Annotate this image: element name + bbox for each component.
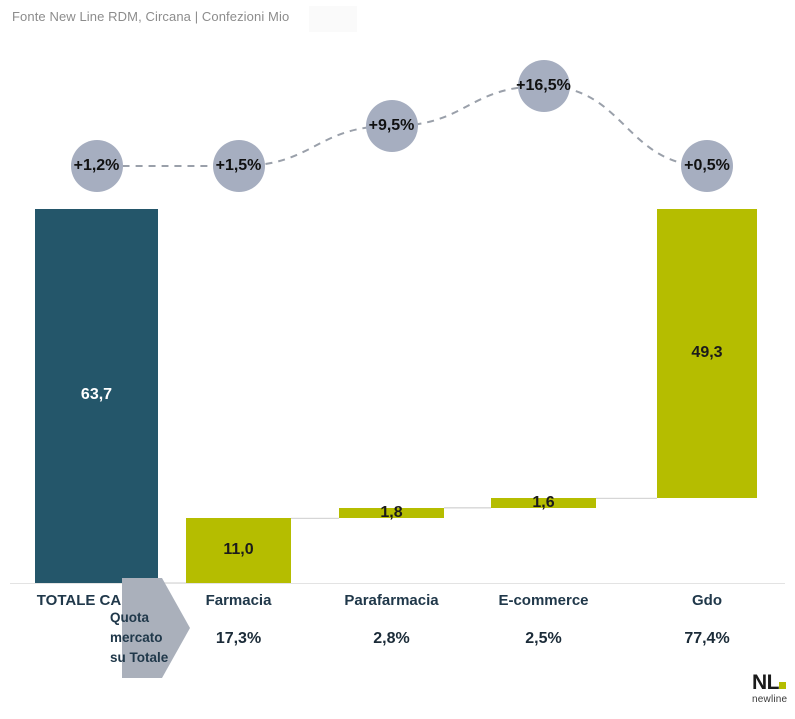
variation-label-parafarmacia: +9,5% — [342, 117, 442, 135]
logo-accent-square — [779, 682, 786, 689]
category-label-e-commerce: E-commerce — [454, 592, 634, 609]
quota-arrow-note-line3: su Totale — [110, 648, 200, 668]
bar-value-farmacia: 11,0 — [186, 541, 291, 559]
waterfall-chart: Fonte New Line RDM, Circana | Confezioni… — [0, 0, 795, 719]
logo-wordmark: newline — [752, 694, 792, 706]
variation-label-gdo: +0,5% — [657, 157, 757, 175]
bar-value-gdo: 49,3 — [657, 344, 757, 362]
bar-value-e-commerce: 1,6 — [491, 494, 596, 512]
category-label-gdo: Gdo — [617, 592, 795, 609]
bar-value-totale-canali: 63,7 — [35, 386, 158, 404]
quota-arrow-note: Quota mercato su Totale — [110, 608, 200, 668]
share-label-e-commerce: 2,5% — [454, 630, 634, 648]
variation-label-totale-canali: +1,2% — [47, 157, 147, 175]
variation-label-e-commerce: +16,5% — [494, 77, 594, 95]
share-label-gdo: 77,4% — [617, 630, 795, 648]
logo-mark: NL — [752, 672, 792, 693]
quota-arrow-note-line1: Quota — [110, 608, 200, 628]
bar-value-parafarmacia: 1,8 — [339, 504, 444, 522]
quota-arrow-note-line2: mercato — [110, 628, 200, 648]
variation-label-farmacia: +1,5% — [189, 157, 289, 175]
newline-logo: NL newline — [752, 672, 792, 712]
